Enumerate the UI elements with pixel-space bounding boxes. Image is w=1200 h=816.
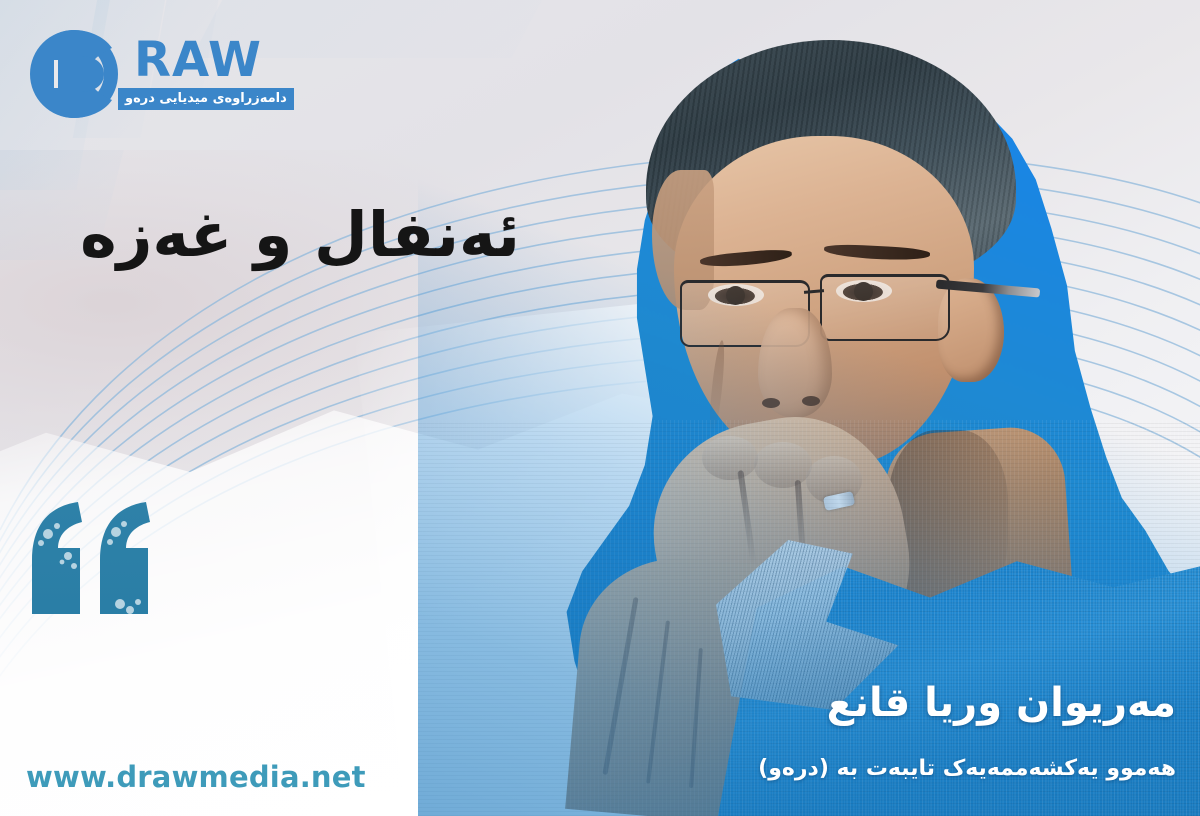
logo-subtitle: دامەزراوەی میدیایی درەو (118, 88, 294, 110)
promo-banner: RAW دامەزراوەی میدیایی درەو ئەنفال و غەز… (0, 0, 1200, 816)
logo-wordmark: RAW (134, 36, 262, 84)
knuckle-2 (754, 442, 812, 488)
website-url[interactable]: www.drawmedia.net (26, 760, 366, 794)
knuckle-1 (702, 436, 758, 480)
nostril-right (802, 396, 820, 406)
speaker-name: مەریوان وریا قانع (827, 680, 1176, 726)
speaker-tagline: هەموو یەکشەممەیەک تایبەت بە (درەو) (758, 756, 1176, 782)
nostril-left (762, 398, 780, 408)
draw-circle-d-logo-icon (24, 26, 124, 122)
draw-media-logo[interactable]: RAW دامەزراوەی میدیایی درەو (24, 26, 284, 126)
eyeglasses (674, 266, 994, 344)
left-double-quote-icon (24, 496, 174, 626)
headline-title: ئەنفال و غەزە (0, 196, 600, 274)
head (646, 40, 1016, 460)
glasses-temple-arm (936, 279, 1040, 297)
lens-right (820, 274, 950, 341)
